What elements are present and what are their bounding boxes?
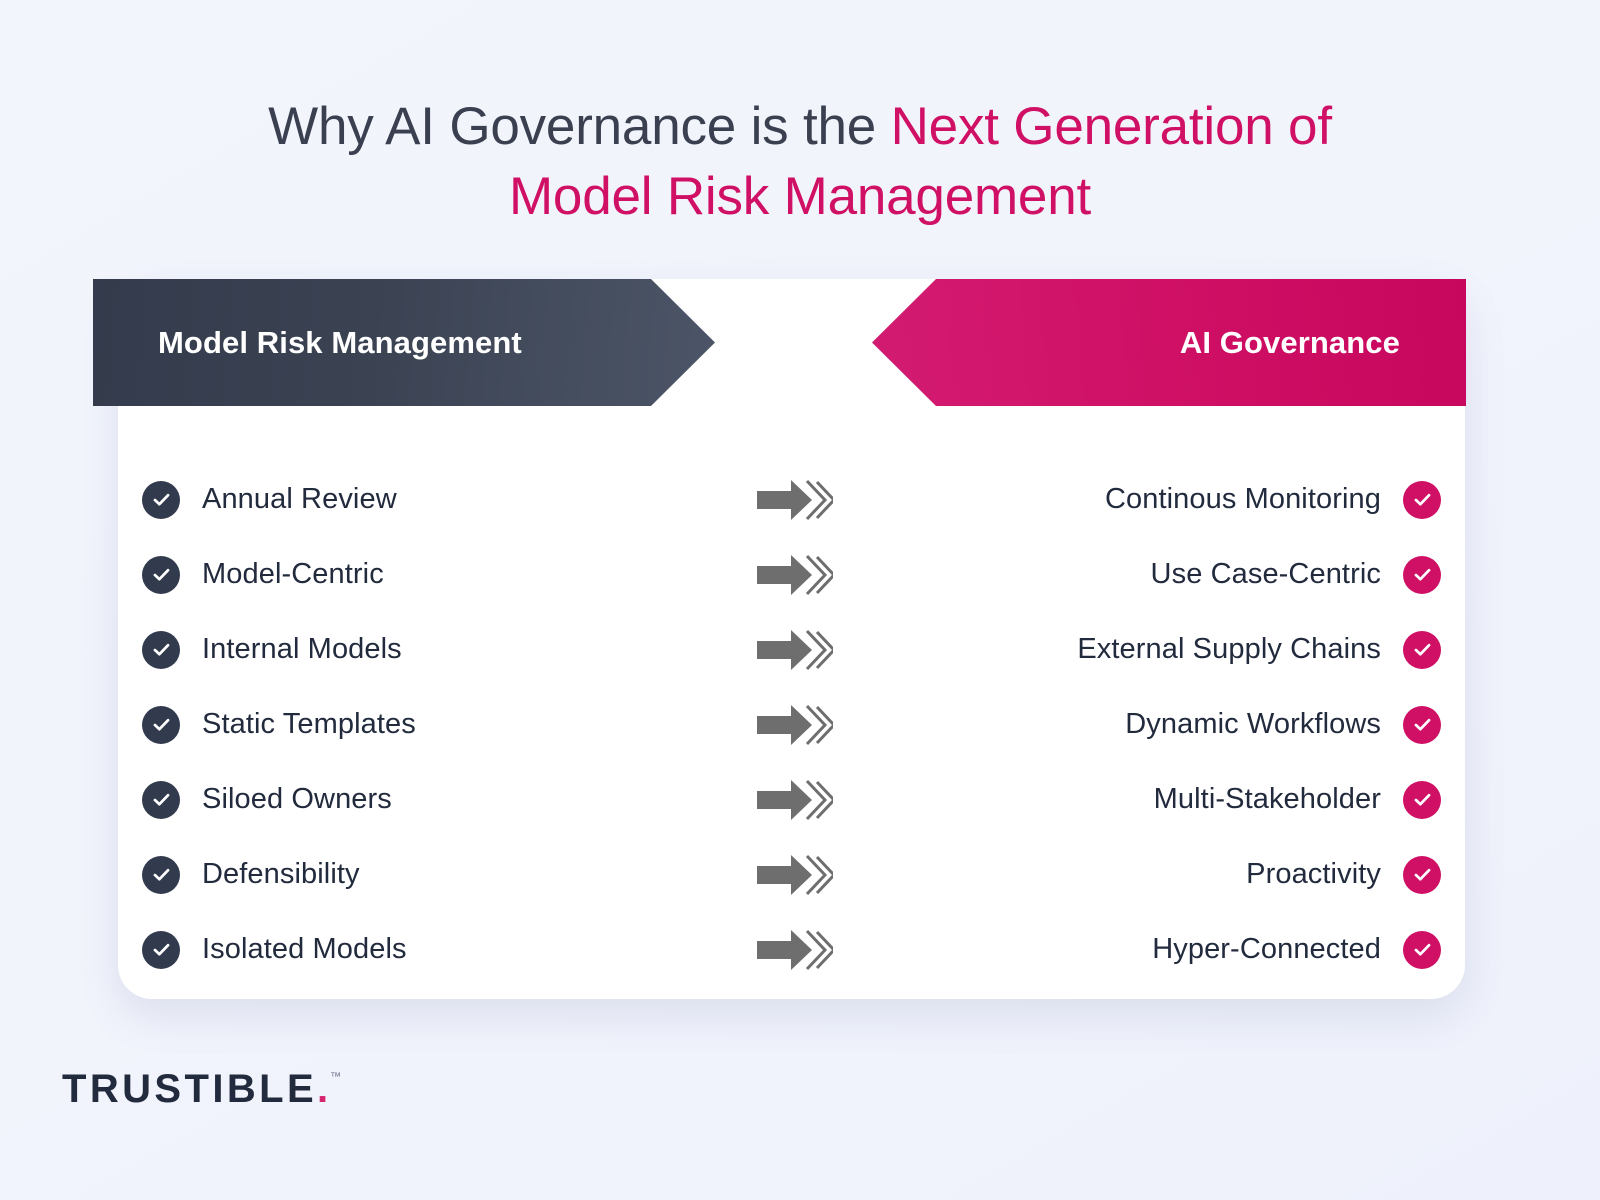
row-right-cell: Continous Monitoring bbox=[880, 481, 1441, 519]
row-left-cell: Siloed Owners bbox=[118, 781, 708, 819]
row-transition-cell bbox=[708, 777, 880, 823]
row-right-cell: Proactivity bbox=[880, 856, 1441, 894]
row-transition-cell bbox=[708, 552, 880, 598]
row-left-label: Internal Models bbox=[202, 633, 402, 666]
row-right-label: Hyper-Connected bbox=[1152, 933, 1381, 966]
page-title-segment-accent: Next Generation of bbox=[891, 97, 1332, 156]
row-right-cell: Use Case-Centric bbox=[880, 556, 1441, 594]
comparison-row: DefensibilityProactivity bbox=[118, 837, 1465, 912]
row-right-label: Multi-Stakeholder bbox=[1154, 783, 1381, 816]
check-circle-icon bbox=[1403, 856, 1441, 894]
row-left-label: Static Templates bbox=[202, 708, 416, 741]
row-right-label: External Supply Chains bbox=[1077, 633, 1381, 666]
check-circle-icon bbox=[142, 631, 180, 669]
row-right-label: Continous Monitoring bbox=[1105, 483, 1381, 516]
row-transition-cell bbox=[708, 927, 880, 973]
logo-trademark: ™ bbox=[330, 1070, 341, 1084]
check-circle-icon bbox=[142, 931, 180, 969]
row-right-label: Use Case-Centric bbox=[1151, 558, 1381, 591]
banner-model-risk-management: Model Risk Management bbox=[93, 279, 715, 406]
arrow-right-icon bbox=[755, 777, 833, 823]
banner-right-label: AI Governance bbox=[1180, 325, 1466, 361]
comparison-row: Isolated ModelsHyper-Connected bbox=[118, 912, 1465, 987]
page-title-line-2: Model Risk Management bbox=[0, 162, 1600, 232]
comparison-row: Siloed OwnersMulti-Stakeholder bbox=[118, 762, 1465, 837]
row-left-label: Defensibility bbox=[202, 858, 360, 891]
arrow-right-icon bbox=[755, 477, 833, 523]
row-left-label: Model-Centric bbox=[202, 558, 384, 591]
row-left-cell: Annual Review bbox=[118, 481, 708, 519]
row-left-cell: Model-Centric bbox=[118, 556, 708, 594]
check-circle-icon bbox=[1403, 706, 1441, 744]
trustible-logo: TRUSTIBLE . ™ bbox=[62, 1066, 341, 1112]
page-title-segment-plain: Why AI Governance is the bbox=[268, 97, 890, 156]
check-circle-icon bbox=[142, 481, 180, 519]
logo-accent-dot: . bbox=[317, 1066, 328, 1112]
row-left-label: Annual Review bbox=[202, 483, 397, 516]
arrow-right-icon bbox=[755, 627, 833, 673]
check-circle-icon bbox=[1403, 556, 1441, 594]
check-circle-icon bbox=[142, 556, 180, 594]
arrow-right-icon bbox=[755, 852, 833, 898]
row-right-label: Proactivity bbox=[1246, 858, 1381, 891]
comparison-row: Internal ModelsExternal Supply Chains bbox=[118, 612, 1465, 687]
row-right-cell: Multi-Stakeholder bbox=[880, 781, 1441, 819]
row-left-cell: Defensibility bbox=[118, 856, 708, 894]
banner-ai-governance: AI Governance bbox=[872, 279, 1466, 406]
row-right-label: Dynamic Workflows bbox=[1125, 708, 1381, 741]
check-circle-icon bbox=[1403, 481, 1441, 519]
comparison-row: Annual ReviewContinous Monitoring bbox=[118, 462, 1465, 537]
row-transition-cell bbox=[708, 477, 880, 523]
row-right-cell: External Supply Chains bbox=[880, 631, 1441, 669]
check-circle-icon bbox=[142, 856, 180, 894]
arrow-right-icon bbox=[755, 702, 833, 748]
page-title-line-1: Why AI Governance is the Next Generation… bbox=[0, 92, 1600, 162]
comparison-row: Model-CentricUse Case-Centric bbox=[118, 537, 1465, 612]
page-title-segment-accent-2: Model Risk Management bbox=[509, 167, 1091, 226]
check-circle-icon bbox=[142, 706, 180, 744]
comparison-row: Static TemplatesDynamic Workflows bbox=[118, 687, 1465, 762]
comparison-row-list: Annual ReviewContinous MonitoringModel-C… bbox=[118, 462, 1465, 987]
banner-left-label: Model Risk Management bbox=[93, 325, 522, 361]
row-transition-cell bbox=[708, 702, 880, 748]
row-transition-cell bbox=[708, 627, 880, 673]
check-circle-icon bbox=[1403, 631, 1441, 669]
row-transition-cell bbox=[708, 852, 880, 898]
row-left-label: Siloed Owners bbox=[202, 783, 392, 816]
arrow-right-icon bbox=[755, 552, 833, 598]
check-circle-icon bbox=[1403, 781, 1441, 819]
check-circle-icon bbox=[142, 781, 180, 819]
row-left-label: Isolated Models bbox=[202, 933, 407, 966]
logo-wordmark: TRUSTIBLE bbox=[62, 1066, 317, 1112]
row-left-cell: Internal Models bbox=[118, 631, 708, 669]
page-title: Why AI Governance is the Next Generation… bbox=[0, 92, 1600, 232]
row-left-cell: Isolated Models bbox=[118, 931, 708, 969]
arrow-right-icon bbox=[755, 927, 833, 973]
row-right-cell: Hyper-Connected bbox=[880, 931, 1441, 969]
row-left-cell: Static Templates bbox=[118, 706, 708, 744]
check-circle-icon bbox=[1403, 931, 1441, 969]
row-right-cell: Dynamic Workflows bbox=[880, 706, 1441, 744]
